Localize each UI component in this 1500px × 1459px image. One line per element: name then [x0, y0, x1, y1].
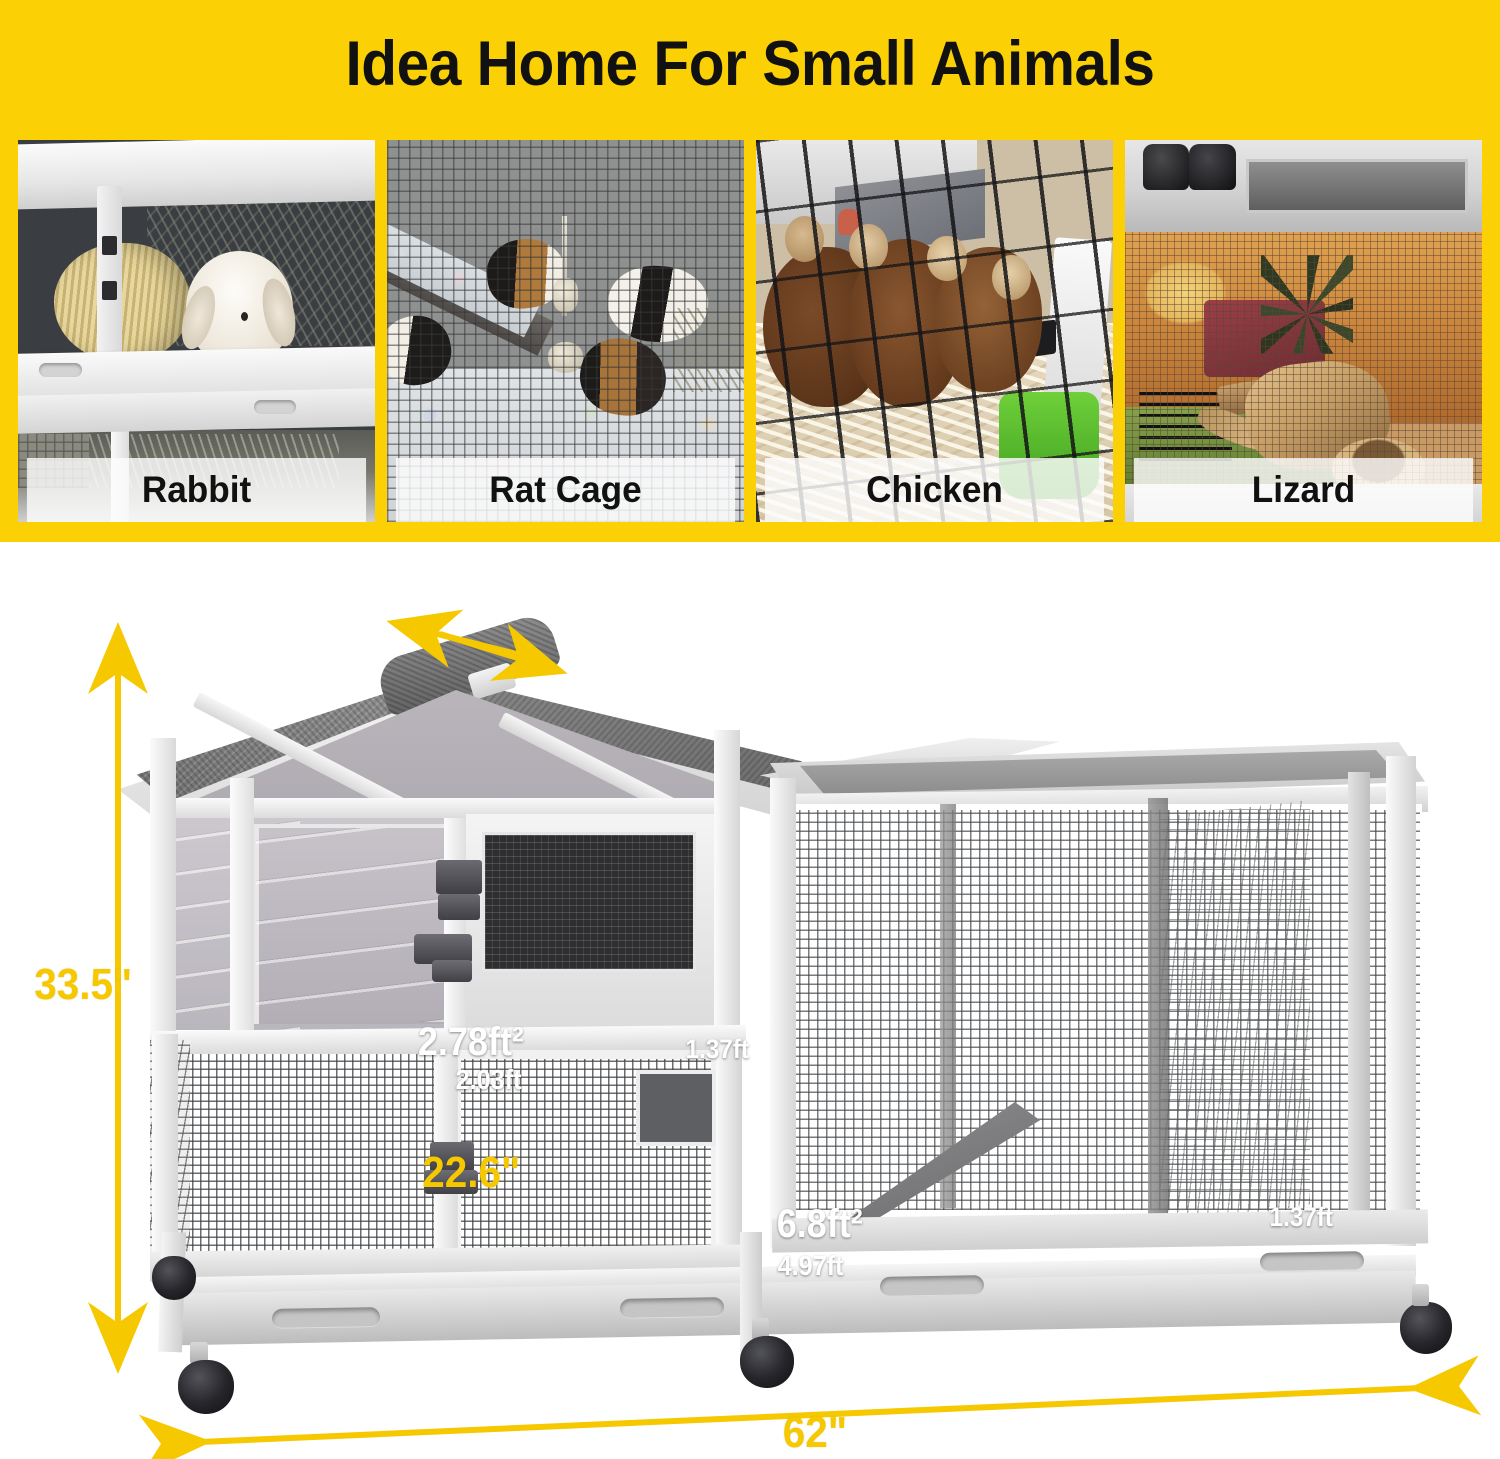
caster-wheel: [1400, 1302, 1452, 1354]
area-label-upper: 2.78ft²: [418, 1020, 524, 1065]
thumbnail-label-rat-cage: Rat Cage: [396, 458, 735, 522]
upper-door-hinge-icon: [438, 894, 480, 920]
dimension-label-upper-width: 2.03ft: [456, 1064, 522, 1096]
dimension-label-lower-depth: 1.37ft: [1270, 1202, 1333, 1233]
run-side-mesh: [1160, 800, 1310, 1230]
dimension-label-depth: 22.6": [422, 1148, 520, 1198]
house-frame-left: [150, 738, 176, 1038]
thumbnail-label-chicken: Chicken: [765, 458, 1104, 522]
house-left-post: [230, 778, 254, 1034]
upper-solid-door-slats: [256, 828, 448, 1022]
thumbnail-rat-cage[interactable]: Rat Cage: [387, 140, 744, 522]
header-banner: Idea Home For Small Animals: [0, 0, 1500, 542]
caster-wheel: [152, 1256, 196, 1300]
heat-lamp-icon: [1189, 144, 1235, 190]
product-dimension-diagram: 22.6" 33.5" 62" 2.78ft² 1.37ft 2.03ft 6.…: [0, 542, 1500, 1459]
run-left-post: [770, 778, 796, 1248]
infographic-page: Idea Home For Small Animals: [0, 0, 1500, 1459]
run-right-post: [1386, 756, 1416, 1246]
upper-door-center-stile: [444, 818, 468, 1030]
caster-wheel: [178, 1360, 234, 1414]
dimension-label-height: 33.5": [34, 960, 132, 1010]
use-case-thumbnail-row: Rabbit Ra: [18, 140, 1482, 522]
lower-door-window: [636, 1070, 716, 1146]
thumbnail-label-rabbit: Rabbit: [27, 458, 366, 522]
run-corner-post: [1148, 798, 1168, 1218]
dimension-label-lower-width: 4.97ft: [778, 1250, 844, 1282]
base-tray-handle[interactable]: [620, 1297, 724, 1319]
thumbnail-lizard[interactable]: Lizard: [1125, 140, 1482, 522]
thumbnail-chicken[interactable]: Chicken: [756, 140, 1113, 522]
thumbnail-label-lizard: Lizard: [1134, 458, 1473, 522]
heat-lamp-icon: [1143, 144, 1189, 190]
caster-stem: [1412, 1284, 1429, 1306]
area-label-lower: 6.8ft²: [777, 1202, 863, 1247]
upper-door-hinge-icon: [436, 860, 482, 894]
base-tray-handle[interactable]: [1260, 1251, 1364, 1272]
dimension-label-upper-depth: 1.37ft: [686, 1034, 749, 1065]
run-front-mesh: [790, 810, 1420, 1210]
page-title: Idea Home For Small Animals: [53, 28, 1448, 100]
caster-wheel: [740, 1336, 794, 1388]
house-frame-right: [714, 730, 740, 1030]
upper-mesh-door-screen: [482, 832, 696, 972]
dimension-label-width: 62": [783, 1408, 847, 1458]
upper-door-latch-bar-icon: [432, 960, 472, 982]
thumbnail-rabbit[interactable]: Rabbit: [18, 140, 375, 522]
run-right-inner-post: [1348, 772, 1370, 1234]
base-tray-handle[interactable]: [272, 1307, 380, 1329]
base-tray-handle[interactable]: [880, 1275, 984, 1297]
